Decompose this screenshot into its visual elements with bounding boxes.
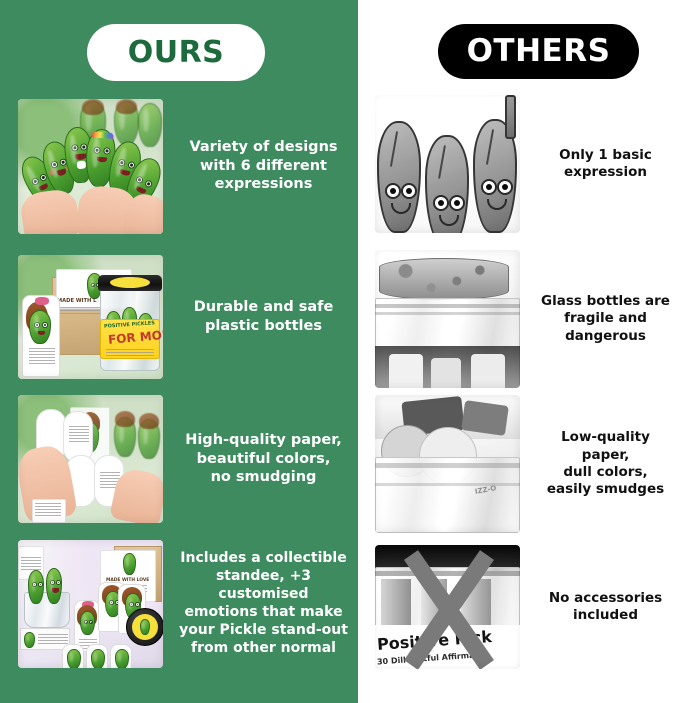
ours-image-3 xyxy=(18,395,163,523)
ours-row-4: MADE WITH LOVE xyxy=(18,540,358,668)
ours-row-1: Variety of designs with 6 different expr… xyxy=(18,95,358,237)
x-mark-icon xyxy=(375,545,520,669)
others-feature-text-2: Glass bottles are fragile and dangerous xyxy=(520,293,675,345)
comparison-infographic: OURS OTHERS xyxy=(0,0,679,703)
others-badge-label: OTHERS xyxy=(467,36,611,67)
ours-image-2: MADE WITH L xyxy=(18,255,163,379)
ours-badge: OURS xyxy=(87,24,265,81)
ours-image-4: MADE WITH LOVE xyxy=(18,540,163,668)
ours-feature-text-1: Variety of designs with 6 different expr… xyxy=(163,138,358,194)
ours-badge-label: OURS xyxy=(128,38,225,68)
others-row-4: Positive Pick 30 Dill-ightful Affirmat N… xyxy=(375,545,675,669)
others-feature-text-4: No accessories included xyxy=(520,590,675,625)
ours-row-3: High-quality paper, beautiful colors, no… xyxy=(18,395,358,523)
others-badge: OTHERS xyxy=(438,24,639,79)
others-image-2 xyxy=(375,250,520,388)
ours-row-2: MADE WITH L xyxy=(18,255,358,379)
others-row-2: Glass bottles are fragile and dangerous xyxy=(375,250,675,388)
others-row-3: IZZ-O Low-quality paper, dull colors, ea… xyxy=(375,395,675,533)
others-image-4: Positive Pick 30 Dill-ightful Affirmat xyxy=(375,545,520,669)
round-product-badge xyxy=(126,608,163,646)
ours-image-1 xyxy=(18,99,163,234)
gift-box-caption: MADE WITH L xyxy=(57,299,96,304)
others-feature-text-1: Only 1 basic expression xyxy=(520,147,675,182)
ours-feature-text-3: High-quality paper, beautiful colors, no… xyxy=(163,431,358,487)
ours-feature-text-4: Includes a collectible standee, +3 custo… xyxy=(163,550,358,657)
ours-feature-text-2: Durable and safe plastic bottles xyxy=(163,298,358,335)
others-image-1 xyxy=(375,95,520,233)
others-feature-text-3: Low-quality paper, dull colors, easily s… xyxy=(520,429,675,498)
others-image-3: IZZ-O xyxy=(375,395,520,533)
others-row-1: Only 1 basic expression xyxy=(375,95,675,233)
